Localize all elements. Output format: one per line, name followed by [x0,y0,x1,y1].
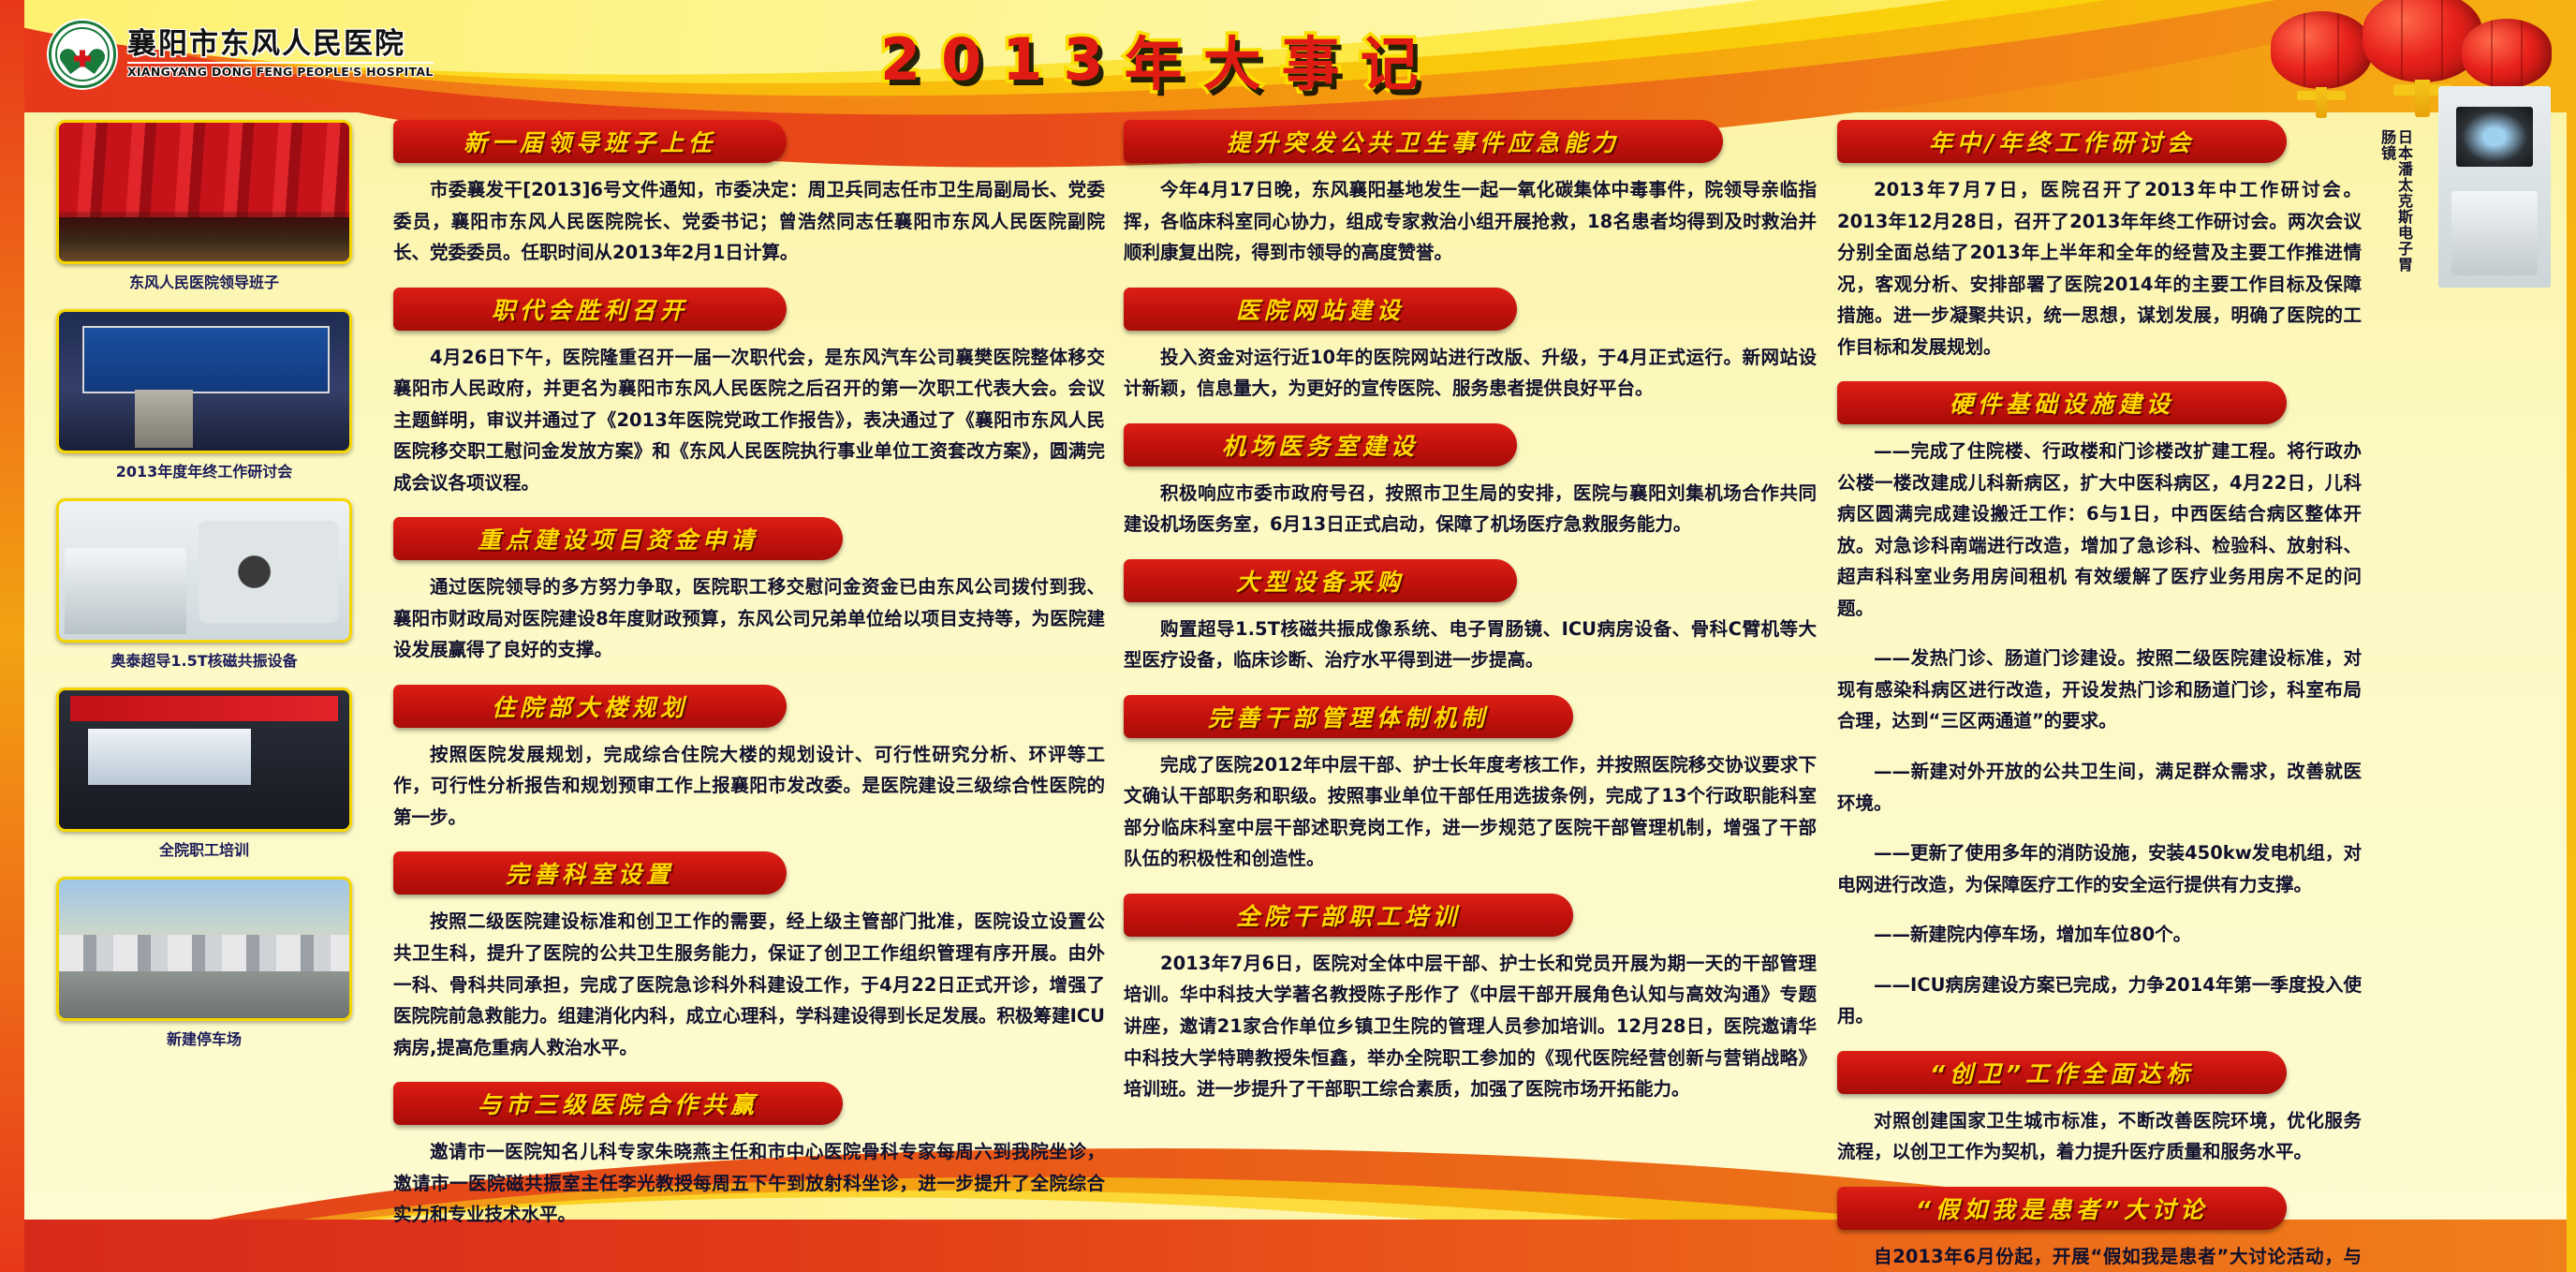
article-body: 2013年7月7日，医院召开了2013年中工作研讨会。2013年12月28日，召… [1837,174,2362,362]
article-body: ——发热门诊、肠道门诊建设。按照二级医院建设标准，对现有感染科病区进行改造，开设… [1837,643,2362,737]
logo-divider [127,62,434,64]
article-heading: 职代会胜利召开 [393,288,787,331]
article-heading: 提升突发公共卫生事件应急能力 [1124,120,1723,163]
article-heading-text: 硬件基础设施建设 [1950,386,2174,420]
article-body: 对照创建国家卫生城市标准，不断改善医院环境，优化服务流程，以创卫工作为契机，着力… [1837,1105,2362,1168]
article-heading-text: 大型设备采购 [1236,564,1405,598]
device-photo-block: 日本潘太克斯电子胃肠镜 [2386,86,2564,288]
photo-block: 2013年度年终工作研讨会 [56,309,365,481]
article-heading: 年中/年终工作研讨会 [1837,120,2287,163]
photo-image [56,498,352,643]
article-heading-text: “创卫”工作全面达标 [1930,1056,2194,1089]
photo-block: 全院职工培训 [56,688,365,860]
red-cross-icon [74,50,91,67]
article-heading: 医院网站建设 [1124,288,1517,331]
article-heading-text: 机场医务室建设 [1222,428,1419,462]
article-body: ——ICU病房建设方案已完成，力争2014年第一季度投入使用。 [1837,969,2362,1032]
article-body: ——新建对外开放的公共卫生间，满足群众需求，改善就医环境。 [1837,756,2362,819]
title-char: 3 [1063,25,1103,94]
article-body: ——新建院内停车场，增加车位80个。 [1837,919,2362,951]
photo-image [56,120,352,264]
title-char: 事 [1282,17,1340,101]
article-body: 完成了医院2012年中层干部、护士长年度考核工作，并按照医院移交协议要求下文确认… [1124,749,1817,875]
article-heading: 全院干部职工培训 [1124,894,1573,937]
title-char: 记 [1361,17,1419,101]
article-body: 积极响应市委市政府号召，按照市卫生局的安排，医院与襄阳刘集机场合作共同建设机场医… [1124,478,1817,540]
article-body: 投入资金对运行近10年的医院网站进行改版、升级，于4月正式运行。新网站设计新颖，… [1124,342,1817,405]
article-heading: 重点建设项目资金申请 [393,517,843,560]
photo-image [56,877,352,1021]
article-body: 4月26日下午，医院隆重召开一届一次职代会，是东风汽车公司襄樊医院整体移交襄阳市… [393,342,1105,499]
title-char: 1 [1002,25,1042,94]
article-heading-text: 与市三级医院合作共赢 [478,1087,758,1120]
photo-caption: 全院职工培训 [56,837,352,860]
device-photo [2438,86,2551,288]
hospital-logo: 襄阳市东风人民医院 XIANGYANG DONG FENG PEOPLE'S H… [49,21,434,88]
lantern-body [2462,19,2552,88]
article-body: 按照医院发展规划，完成综合住院大楼的规划设计、可行性研究分析、环评等工作，可行性… [393,739,1105,834]
article-body: 邀请市一医院知名儿科专家朱晓燕主任和市中心医院骨科专家每周六到我院坐诊，邀请市一… [393,1136,1105,1231]
article-heading-text: 新一届领导班子上任 [464,125,716,158]
title-char: 年 [1125,17,1183,101]
article-body: 2013年7月6日，医院对全体中层干部、护士长和党员开展为期一天的干部管理培训。… [1124,948,1817,1105]
logo-text-block: 襄阳市东风人民医院 XIANGYANG DONG FENG PEOPLE'S H… [127,30,434,79]
page-title: 2 0 1 3 年 大 事 记 [880,17,1419,101]
article-column-3: 年中/年终工作研讨会2013年7月7日，医院召开了2013年中工作研讨会。201… [1837,120,2362,1272]
photo-caption: 东风人民医院领导班子 [56,270,352,292]
article-heading-text: 医院网站建设 [1236,292,1405,326]
article-body: 自2013年6月份起，开展“假如我是患者”大讨论活动，与民主评议政风行风相结合，… [1837,1241,2362,1272]
article-heading-text: 提升突发公共卫生事件应急能力 [1227,125,1620,158]
article-heading: 完善干部管理体制机制 [1124,695,1573,738]
photo-caption: 2013年度年终工作研讨会 [56,459,352,481]
article-body: 今年4月17日晚，东风襄阳基地发生一起一氧化碳集体中毒事件，院领导亲临指挥，各临… [1124,174,1817,269]
article-heading-text: 完善科室设置 [506,856,674,890]
article-column-2: 提升突发公共卫生事件应急能力今年4月17日晚，东风襄阳基地发生一起一氧化碳集体中… [1124,120,1817,1124]
article-body: 市委襄发干[2013]6号文件通知，市委决定：周卫兵同志任市卫生局副局长、党委委… [393,174,1105,269]
article-heading-text: “假如我是患者”大讨论 [1916,1191,2208,1225]
photo-block: 新建停车场 [56,877,365,1049]
hospital-name-cn: 襄阳市东风人民医院 [127,30,434,59]
article-heading-text: 完善干部管理体制机制 [1208,700,1489,733]
title-char: 大 [1203,17,1261,101]
photo-image [56,688,352,832]
photo-block: 奥泰超导1.5T核磁共振设备 [56,498,365,671]
article-heading-text: 重点建设项目资金申请 [478,522,758,555]
article-heading: 住院部大楼规划 [393,685,787,728]
title-char: 0 [941,25,981,94]
lantern-body [2271,11,2372,89]
photo-caption: 奥泰超导1.5T核磁共振设备 [56,648,352,671]
article-heading: 机场医务室建设 [1124,423,1517,466]
photo-image [56,309,352,453]
article-body: 通过医院领导的多方努力争取，医院职工移交慰问金资金已由东风公司拨付到我、襄阳市财… [393,571,1105,666]
article-heading: 新一届领导班子上任 [393,120,787,163]
article-body: ——更新了使用多年的消防设施，安装450kw发电机组，对电网进行改造，为保障医疗… [1837,837,2362,900]
article-body: 按照二级医院建设标准和创卫工作的需要，经上级主管部门批准，医院设立设置公共卫生科… [393,906,1105,1063]
hospital-emblem-icon [49,21,116,88]
content-area: 东风人民医院领导班子2013年度年终工作研讨会奥泰超导1.5T核磁共振设备全院职… [0,111,2576,1206]
article-heading: 与市三级医院合作共赢 [393,1082,843,1125]
article-heading: 完善科室设置 [393,851,787,895]
photo-block: 东风人民医院领导班子 [56,120,365,292]
lantern-icon [2271,11,2372,116]
photo-caption: 新建停车场 [56,1027,352,1049]
article-heading-text: 年中/年终工作研讨会 [1929,125,2195,158]
photo-column: 东风人民医院领导班子2013年度年终工作研讨会奥泰超导1.5T核磁共振设备全院职… [56,120,365,1066]
device-caption: 日本潘太克斯电子胃肠镜 [2392,129,2412,288]
hospital-name-en: XIANGYANG DONG FENG PEOPLE'S HOSPITAL [127,67,434,79]
title-char: 2 [880,25,920,94]
article-heading-text: 住院部大楼规划 [492,689,688,723]
article-column-1: 新一届领导班子上任市委襄发干[2013]6号文件通知，市委决定：周卫兵同志任市卫… [393,120,1105,1250]
article-body: ——完成了住院楼、行政楼和门诊楼改扩建工程。将行政办公楼一楼改建成儿科新病区，扩… [1837,436,2362,624]
article-heading: “创卫”工作全面达标 [1837,1051,2287,1094]
article-heading: 硬件基础设施建设 [1837,381,2287,424]
article-heading-text: 全院干部职工培训 [1236,898,1461,932]
article-heading: 大型设备采购 [1124,559,1517,602]
poster-root: 襄阳市东风人民医院 XIANGYANG DONG FENG PEOPLE'S H… [0,0,2576,1272]
article-body: 购置超导1.5T核磁共振成像系统、电子胃肠镜、ICU病房设备、骨科C臂机等大型医… [1124,614,1817,676]
article-heading-text: 职代会胜利召开 [492,292,688,326]
article-heading: “假如我是患者”大讨论 [1837,1187,2287,1230]
